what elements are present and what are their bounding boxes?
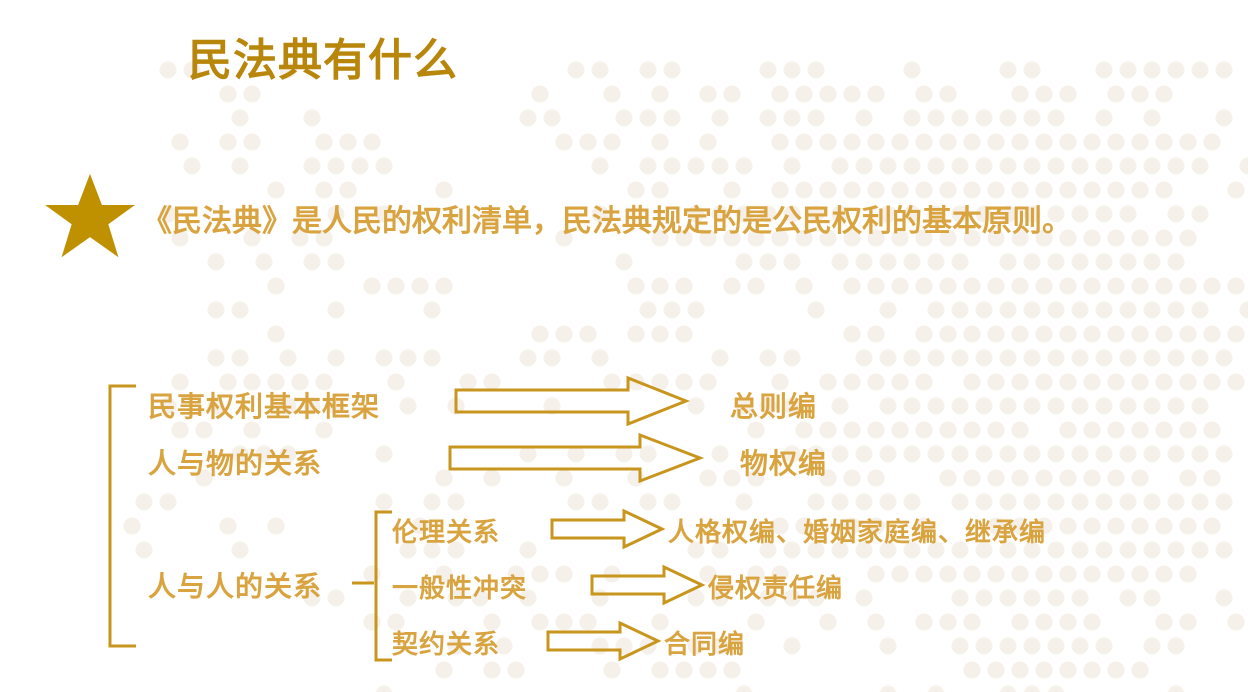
inner-bracket [376,512,392,660]
subtitle-text: 《民法典》是人民的权利清单，民法典规定的是公民权利的基本原则。 [142,196,1072,240]
outer-bracket [110,386,136,646]
block-arrow-sub1 [552,511,662,547]
diagram-row-target: 总则编 [730,385,817,425]
diagram-row-source: 人与物的关系 [148,442,322,482]
diagram-subrow-source: 一般性冲突 [392,568,527,605]
diagram-subrow-source: 契约关系 [392,624,500,661]
diagram-row-source: 民事权利基本框架 [148,385,380,425]
diagram-subrow-target: 合同编 [664,624,745,661]
slide-canvas: 民法典有什么 《民法典》是人民的权利清单，民法典规定的是公民权利的基本原则。 [0,0,1248,692]
diagram-group-label: 人与人的关系 [148,565,322,605]
star-icon [44,172,136,260]
page-title: 民法典有什么 [188,24,458,88]
block-arrow-row2 [450,435,700,481]
diagram-row-target: 物权编 [740,442,827,482]
block-arrow-sub2 [592,567,702,603]
diagram-subrow-source: 伦理关系 [392,512,500,549]
diagram-subrow-target: 侵权责任编 [708,568,843,605]
block-arrow-row1 [456,378,686,424]
diagram-subrow-target: 人格权编、婚姻家庭编、继承编 [668,512,1046,549]
block-arrow-sub3 [548,623,658,659]
